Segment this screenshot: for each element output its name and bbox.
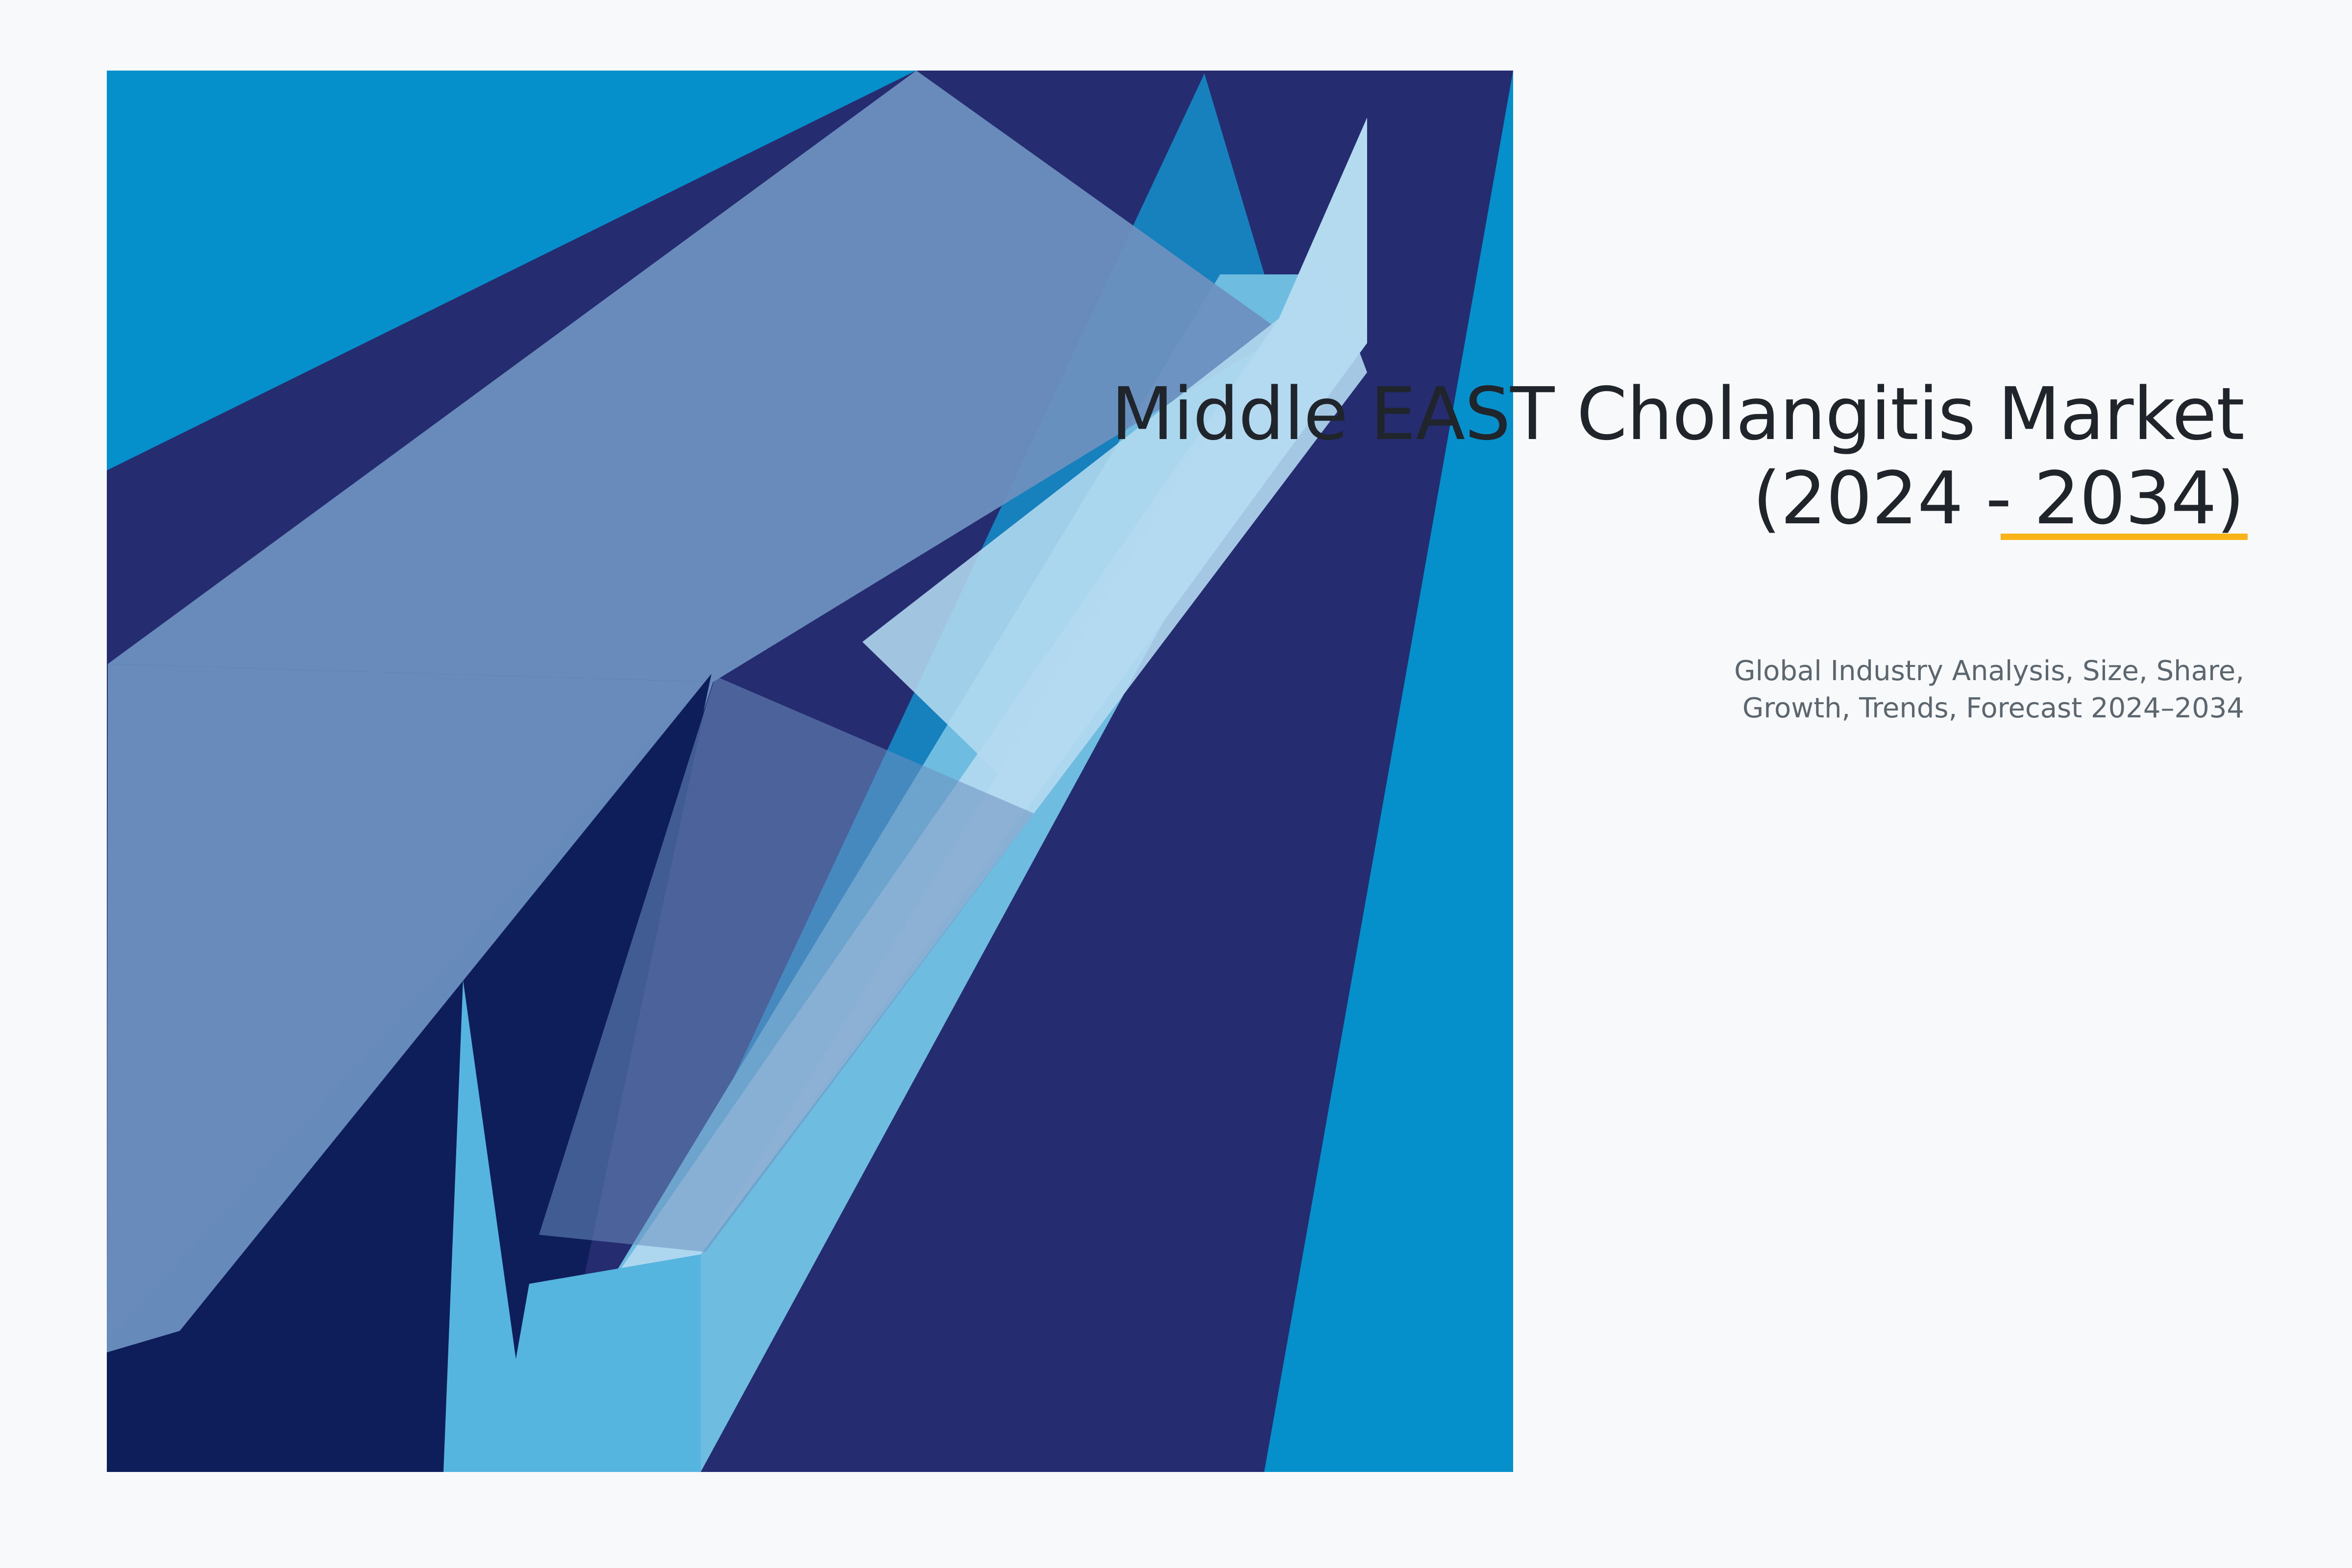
page-title: Middle EAST Cholangitis Market (2024 - 2…	[921, 372, 2244, 540]
title-block: Middle EAST Cholangitis Market (2024 - 2…	[921, 372, 2244, 540]
abstract-polygon-graphic	[0, 0, 2352, 1568]
page-subtitle: Global Industry Analysis, Size, Share, G…	[1313, 653, 2244, 727]
report-cover: Middle EAST Cholangitis Market (2024 - 2…	[0, 0, 2352, 1568]
